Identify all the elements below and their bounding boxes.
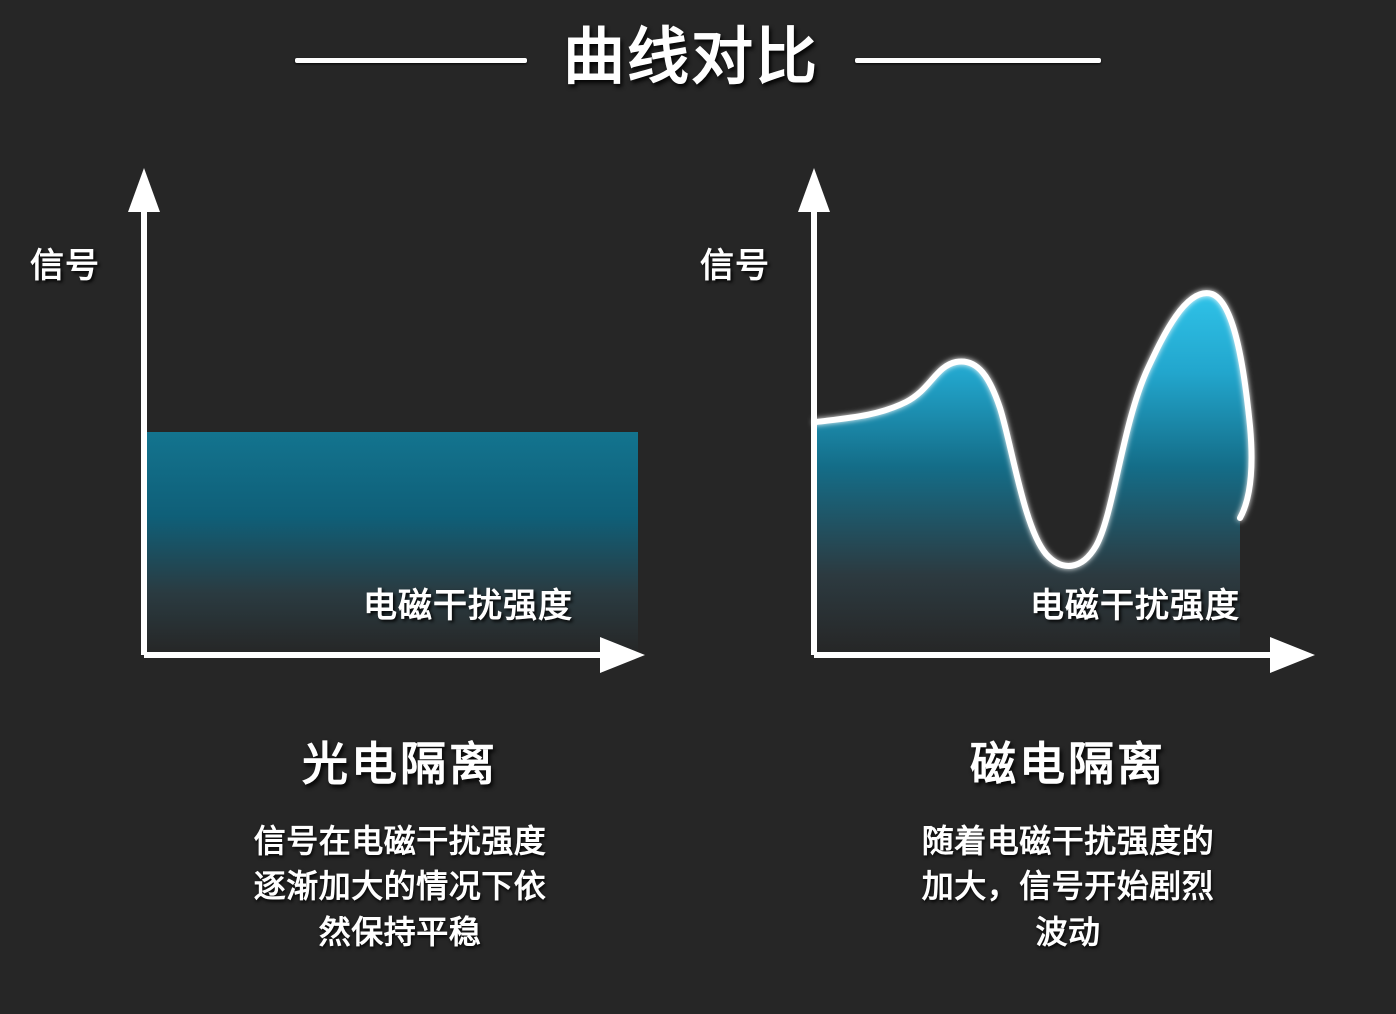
caption-description-magnetic: 随着电磁干扰强度的 加大，信号开始剧烈 波动 (828, 819, 1308, 955)
caption-title-optical: 光电隔离 (160, 738, 640, 791)
page-header: 曲线对比 (0, 0, 1396, 120)
y-axis-label-magnetic: 信号 (700, 238, 770, 287)
caption-optical: 光电隔离 信号在电磁干扰强度 逐渐加大的情况下依 然保持平稳 (160, 738, 640, 955)
optical-isolation-chart (8, 150, 678, 690)
x-axis-label-optical: 电磁干扰强度 (363, 578, 573, 627)
page-title: 曲线对比 (563, 27, 819, 93)
x-axis-label-magnetic: 电磁干扰强度 (1030, 578, 1240, 627)
title-rule-right-icon (855, 58, 1101, 63)
caption-title-magnetic: 磁电隔离 (828, 738, 1308, 791)
x-axis-arrow-icon (1270, 637, 1315, 673)
caption-magnetic: 磁电隔离 随着电磁干扰强度的 加大，信号开始剧烈 波动 (828, 738, 1308, 955)
chart-panel-magnetic (678, 150, 1348, 710)
title-rule-left-icon (295, 58, 527, 63)
y-axis-arrow-icon (128, 168, 160, 212)
magnetic-isolation-chart (678, 150, 1348, 690)
y-axis-arrow-icon (798, 168, 830, 212)
chart-panel-optical (8, 150, 678, 710)
poster-root: 曲线对比 (0, 0, 1396, 1014)
y-axis-label-optical: 信号 (30, 238, 100, 287)
caption-description-optical: 信号在电磁干扰强度 逐渐加大的情况下依 然保持平稳 (160, 819, 640, 955)
